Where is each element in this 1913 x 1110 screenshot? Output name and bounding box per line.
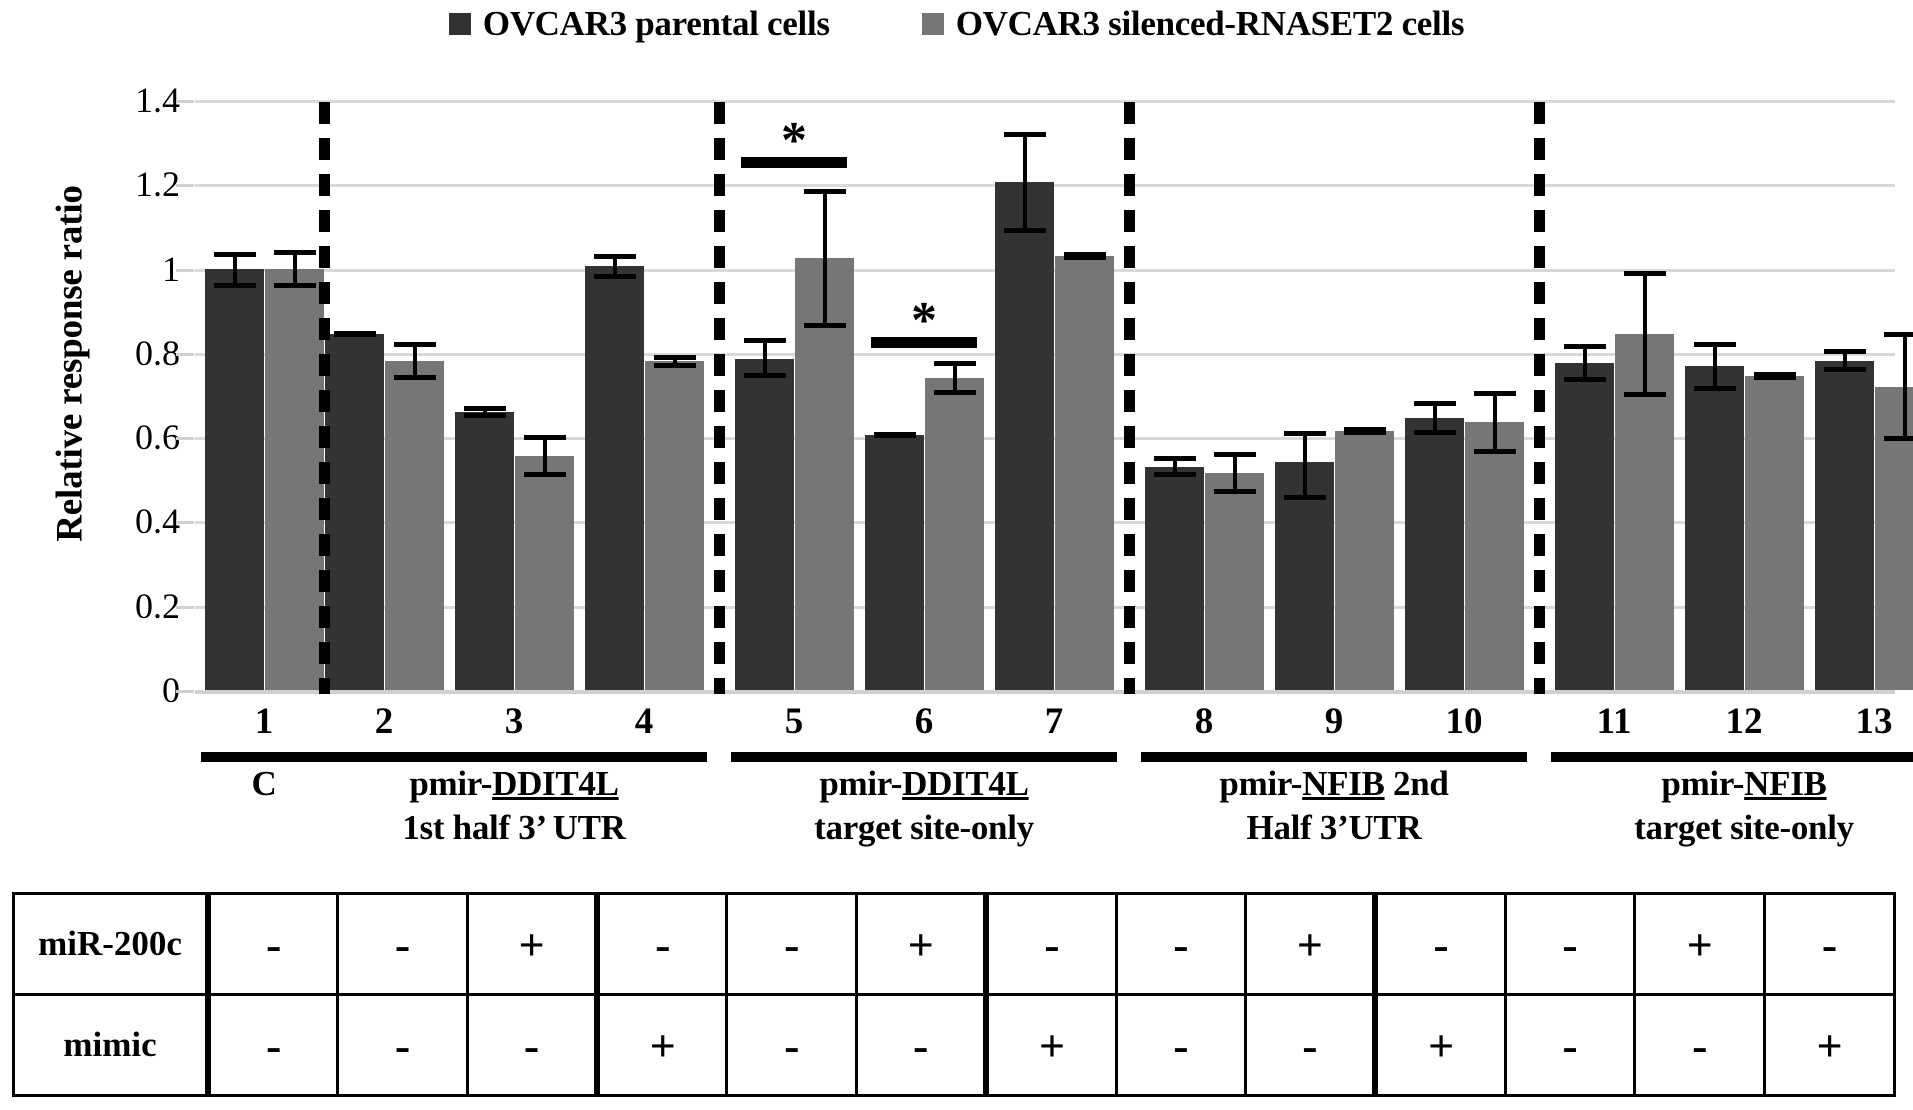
x-axis-number-6: 6 [865, 700, 983, 743]
table-cell-r1-c7: - [986, 894, 1116, 995]
table-cell-r2-c13: + [1765, 995, 1895, 1096]
group-underline-2 [321, 752, 707, 762]
significance-marker-cat6: * [871, 292, 977, 348]
legend-entry-parental: OVCAR3 parental cells [449, 4, 830, 44]
y-tick-mark-1.4 [176, 100, 194, 103]
table-cell-r1-c5: - [727, 894, 857, 995]
table-cell-r1-c3: + [467, 894, 597, 995]
y-tick-mark-0.6 [176, 437, 194, 440]
error-bar-cat6-series1 [874, 432, 916, 438]
y-tick-label-0.2: 0.2 [60, 585, 180, 627]
bar-cat8-series1 [1145, 467, 1204, 690]
table-cell-r2-c6: - [857, 995, 987, 1096]
bar-cat4-series2 [645, 361, 704, 690]
table-cell-r2-c5: - [727, 995, 857, 1096]
group-label-4: pmir-NFIB 2ndHalf 3’UTR [1124, 762, 1544, 850]
table-cell-r2-c7: + [986, 995, 1116, 1096]
table-cell-r2-c8: - [1116, 995, 1246, 1096]
group-label-5: pmir-NFIBtarget site-only [1534, 762, 1913, 850]
x-axis-number-3: 3 [455, 700, 573, 743]
y-tick-label-1: 1 [60, 248, 180, 290]
table-cell-r1-c11: - [1505, 894, 1635, 995]
table-cell-r2-c1: - [208, 995, 338, 1096]
error-bar-cat8-series1 [1154, 456, 1196, 477]
y-tick-mark-0.8 [176, 353, 194, 356]
error-bar-cat1-series1 [214, 252, 256, 288]
table-cell-r2-c10: + [1375, 995, 1505, 1096]
group-divider-3 [1124, 102, 1135, 694]
error-bar-cat3-series1 [464, 406, 506, 419]
table-cell-r1-c4: - [597, 894, 727, 995]
y-tick-label-0.8: 0.8 [60, 332, 180, 374]
error-bar-cat6-series2 [934, 361, 976, 395]
bar-cat7-series1 [995, 182, 1054, 690]
x-axis-number-2: 2 [325, 700, 443, 743]
table-row: mimic---+--+--+--+ [14, 995, 1895, 1096]
error-bar-cat12-series1 [1694, 342, 1736, 390]
bar-cat6-series2 [925, 378, 984, 690]
error-bar-cat13-series2 [1884, 332, 1913, 442]
group-label-line: pmir-NFIB [1534, 762, 1913, 806]
condition-table: miR-200c--+--+--+--+-mimic---+--+--+--+ [12, 892, 1896, 1097]
error-bar-cat5-series2 [804, 189, 846, 328]
bar-cat12-series1 [1685, 366, 1744, 691]
error-bar-cat4-series2 [654, 355, 696, 368]
error-bar-cat7-series2 [1064, 252, 1106, 260]
y-tick-mark-1.2 [176, 184, 194, 187]
chart-plot-area: Relative response ratio 1.41.210.80.60.4… [0, 60, 1913, 700]
bar-cat10-series1 [1405, 418, 1464, 690]
asterisk-icon: * [741, 124, 847, 158]
x-axis-number-1: 1 [205, 700, 323, 743]
error-bar-cat10-series1 [1414, 401, 1456, 435]
table-cell-r1-c10: - [1375, 894, 1505, 995]
group-label-line: pmir-DDIT4L [304, 762, 724, 806]
error-bar-cat5-series1 [744, 338, 786, 378]
table-cell-r1-c9: + [1246, 894, 1376, 995]
x-axis-number-4: 4 [585, 700, 703, 743]
table-cell-r1-c8: - [1116, 894, 1246, 995]
group-underline-3 [731, 752, 1117, 762]
table-row-header-1: miR-200c [14, 894, 209, 995]
table-cell-r1-c6: + [857, 894, 987, 995]
group-label-line: pmir-NFIB 2nd [1124, 762, 1544, 806]
table-cell-r1-c1: - [208, 894, 338, 995]
legend-swatch-gray-icon [922, 13, 944, 35]
bar-cat1-series1 [205, 269, 264, 690]
bar-cat13-series1 [1815, 361, 1874, 690]
bar-cat9-series2 [1335, 431, 1394, 690]
x-axis: 12345678910111213Cpmir-DDIT4L1st half 3’… [0, 700, 1913, 890]
x-axis-number-13: 13 [1815, 700, 1913, 743]
x-axis-number-5: 5 [735, 700, 853, 743]
x-axis-number-8: 8 [1145, 700, 1263, 743]
bar-cat11-series1 [1555, 363, 1614, 690]
table-row-header-2: mimic [14, 995, 209, 1096]
group-label-line: 1st half 3’ UTR [304, 806, 724, 850]
group-underline-4 [1141, 752, 1527, 762]
legend-label-parental: OVCAR3 parental cells [483, 4, 830, 44]
table-cell-r2-c11: - [1505, 995, 1635, 1096]
table-cell-r1-c13: - [1765, 894, 1895, 995]
table-cell-r2-c9: - [1246, 995, 1376, 1096]
x-axis-number-9: 9 [1275, 700, 1393, 743]
gridline-0 [195, 690, 1895, 694]
error-bar-cat4-series1 [594, 254, 636, 279]
error-bar-cat9-series2 [1344, 427, 1386, 435]
x-axis-number-10: 10 [1405, 700, 1523, 743]
asterisk-icon: * [871, 304, 977, 338]
y-tick-label-1.4: 1.4 [60, 79, 180, 121]
legend-swatch-dark-icon [449, 13, 471, 35]
group-underline-5 [1551, 752, 1913, 762]
y-tick-mark-0.4 [176, 521, 194, 524]
significance-line [871, 337, 977, 348]
y-tick-mark-1 [176, 269, 194, 272]
group-label-line: Half 3’UTR [1124, 806, 1544, 850]
error-bar-cat11-series2 [1624, 271, 1666, 397]
bar-cat1-series2 [265, 269, 324, 690]
bar-cat3-series2 [515, 456, 574, 690]
group-label-line: target site-only [714, 806, 1134, 850]
bar-cat4-series1 [585, 266, 644, 690]
bar-cat5-series1 [735, 359, 794, 690]
error-bar-cat11-series1 [1564, 344, 1606, 382]
group-label-line: pmir-DDIT4L [714, 762, 1134, 806]
y-tick-label-1.2: 1.2 [60, 163, 180, 205]
x-axis-number-11: 11 [1555, 700, 1673, 743]
error-bar-cat9-series1 [1284, 431, 1326, 501]
bar-cat10-series2 [1465, 422, 1524, 690]
bar-cat2-series2 [385, 361, 444, 690]
chart-legend: OVCAR3 parental cells OVCAR3 silenced-RN… [0, 4, 1913, 44]
error-bar-cat12-series2 [1754, 372, 1796, 380]
group-label-2: pmir-DDIT4L1st half 3’ UTR [304, 762, 724, 850]
group-divider-1 [319, 102, 330, 694]
legend-label-silenced: OVCAR3 silenced-RNASET2 cells [956, 4, 1465, 44]
x-axis-number-7: 7 [995, 700, 1113, 743]
table-cell-r2-c3: - [467, 995, 597, 1096]
gridline-1.4 [195, 100, 1895, 103]
significance-marker-cat5: * [741, 112, 847, 168]
table-cell-r2-c2: - [338, 995, 468, 1096]
error-bar-cat8-series2 [1214, 452, 1256, 494]
error-bar-cat10-series2 [1474, 391, 1516, 454]
bar-cat8-series2 [1205, 473, 1264, 690]
error-bar-cat1-series2 [274, 250, 316, 288]
y-tick-label-0.6: 0.6 [60, 416, 180, 458]
table-cell-r1-c2: - [338, 894, 468, 995]
y-tick-label-0.4: 0.4 [60, 500, 180, 542]
bar-cat12-series2 [1745, 376, 1804, 690]
table-cell-r2-c12: - [1635, 995, 1765, 1096]
group-divider-4 [1534, 102, 1545, 694]
group-divider-2 [714, 102, 725, 694]
table-cell-r1-c12: + [1635, 894, 1765, 995]
error-bar-cat2-series1 [334, 331, 376, 337]
table-cell-r2-c4: + [597, 995, 727, 1096]
group-underline-1 [201, 752, 327, 762]
error-bar-cat3-series2 [524, 435, 566, 477]
error-bar-cat2-series2 [394, 342, 436, 380]
y-tick-mark-0.2 [176, 606, 194, 609]
bar-cat6-series1 [865, 435, 924, 690]
bar-cat3-series1 [455, 412, 514, 690]
error-bar-cat13-series1 [1824, 349, 1866, 372]
y-tick-mark-0 [176, 690, 194, 693]
table-row: miR-200c--+--+--+--+- [14, 894, 1895, 995]
legend-entry-silenced: OVCAR3 silenced-RNASET2 cells [922, 4, 1465, 44]
significance-line [741, 157, 847, 168]
group-label-line: target site-only [1534, 806, 1913, 850]
bar-cat7-series2 [1055, 256, 1114, 690]
bar-cat2-series1 [325, 334, 384, 690]
x-axis-number-12: 12 [1685, 700, 1803, 743]
y-axis-tick-labels: 1.41.210.80.60.40.20 [60, 60, 180, 700]
error-bar-cat7-series1 [1004, 132, 1046, 233]
group-label-3: pmir-DDIT4Ltarget site-only [714, 762, 1134, 850]
